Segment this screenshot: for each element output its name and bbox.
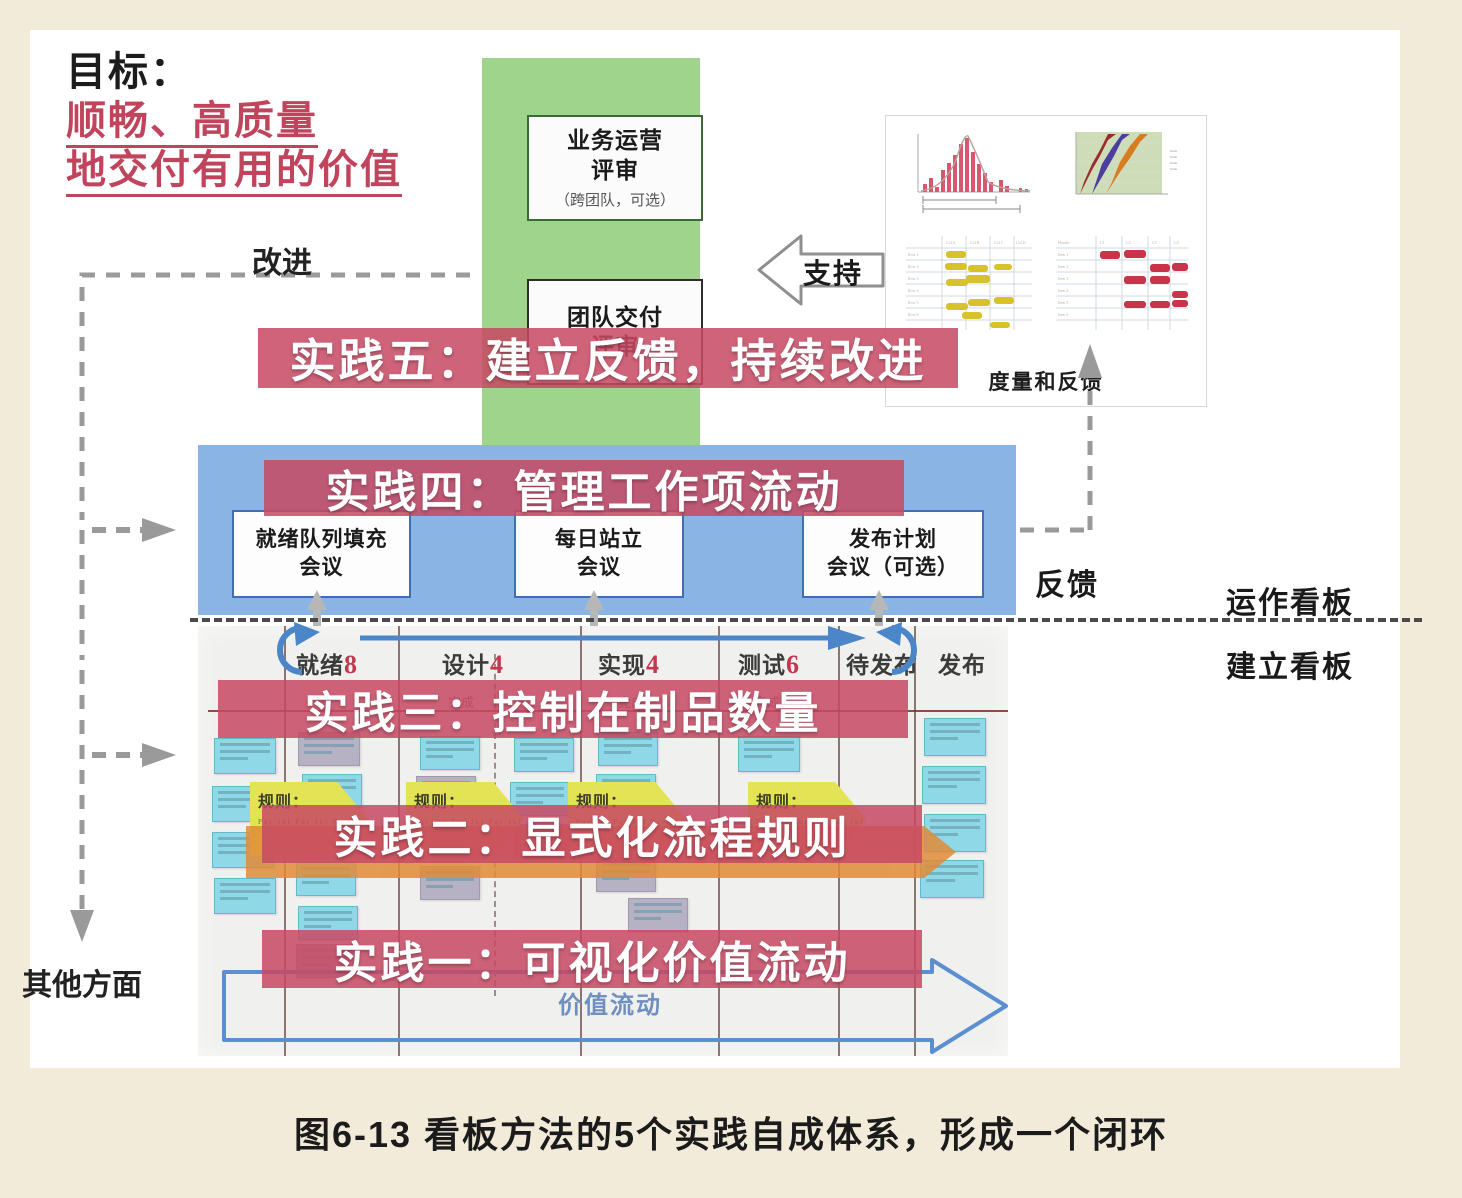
practice-banner-4: 实践四：管理工作项流动 — [264, 460, 904, 516]
practice-banner-5: 实践五：建立反馈，持续改进 — [258, 328, 958, 388]
practice-banner-1: 实践一：可视化价值流动 — [262, 930, 922, 988]
practice-banner-2: 实践二：显式化流程规则 — [262, 805, 922, 863]
figure-card: 目标： 顺畅、高质量 地交付有用的价值 改进 其他方面 业务运营 评审 （跨团队… — [30, 30, 1400, 1068]
figure-caption: 图6-13 看板方法的5个实践自成体系，形成一个闭环 — [0, 1106, 1462, 1158]
practice-banner-3: 实践三：控制在制品数量 — [218, 680, 908, 738]
